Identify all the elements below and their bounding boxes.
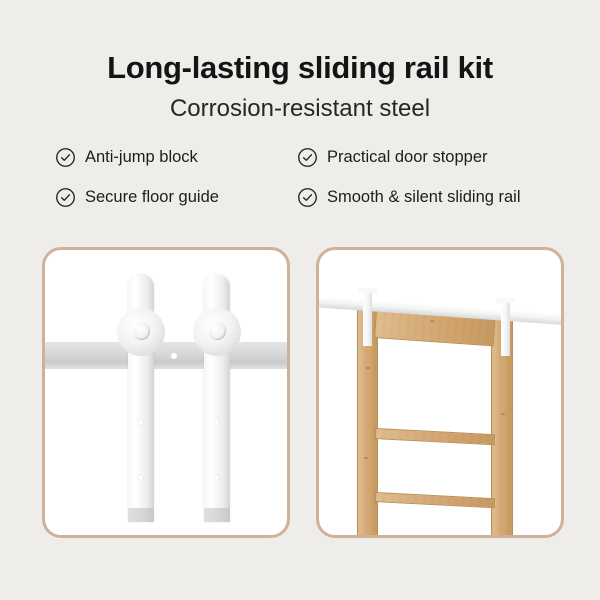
sliding-rail-bar [42, 342, 290, 369]
hanger-hardware-photo [45, 250, 287, 535]
feature-list: Anti-jump block Practical door stopper S… [0, 147, 600, 208]
door-bracket-left-tab [358, 288, 377, 293]
wood-knot [366, 367, 370, 369]
door-rail-bottom [375, 492, 495, 508]
door-bracket-right-tab [496, 298, 515, 303]
product-image-panels [0, 247, 600, 547]
feature-item-anti-jump-block: Anti-jump block [55, 147, 297, 168]
strap-screw-hole [138, 475, 143, 480]
mounted-wood-door-photo [319, 250, 561, 535]
header: Long-lasting sliding rail kit Corrosion-… [0, 0, 600, 121]
wheel-bolt-cap [133, 323, 150, 340]
feature-item-practical-door-stopper: Practical door stopper [297, 147, 550, 168]
wood-door-frame [357, 306, 515, 538]
door-rail-middle [375, 428, 495, 445]
page-title: Long-lasting sliding rail kit [0, 52, 600, 85]
wood-knot [364, 457, 368, 459]
door-bracket-left [363, 288, 372, 346]
feature-item-smooth-silent-sliding-rail: Smooth & silent sliding rail [297, 187, 550, 208]
check-circle-icon [55, 187, 76, 208]
strap-bottom-tip [204, 508, 230, 522]
strap-bottom-tip [128, 508, 154, 522]
wheel-bolt-cap [209, 323, 226, 340]
hanger-hardware-card [42, 247, 290, 538]
feature-label: Anti-jump block [85, 149, 198, 166]
check-circle-icon [297, 147, 318, 168]
rail-screw-hole [171, 353, 177, 359]
strap-screw-hole [214, 420, 219, 425]
page-subtitle: Corrosion-resistant steel [0, 96, 600, 121]
check-circle-icon [55, 147, 76, 168]
feature-item-secure-floor-guide: Secure floor guide [55, 187, 297, 208]
strap-screw-hole [214, 475, 219, 480]
feature-label: Secure floor guide [85, 189, 219, 206]
door-bracket-right [501, 298, 510, 356]
wood-knot [430, 320, 434, 322]
check-circle-icon [297, 187, 318, 208]
wood-knot [501, 413, 505, 415]
mounted-door-card [316, 247, 564, 538]
feature-label: Practical door stopper [327, 149, 488, 166]
feature-label: Smooth & silent sliding rail [327, 189, 521, 206]
strap-screw-hole [138, 420, 143, 425]
